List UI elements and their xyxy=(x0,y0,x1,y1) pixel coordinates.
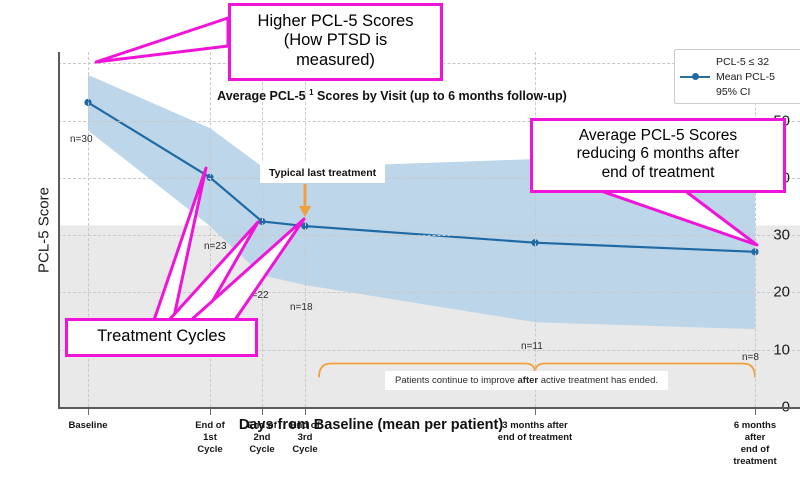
chart-legend: PCL-5 ≤ 32 Mean PCL-5 95% CI xyxy=(674,49,800,104)
sample-size-label: n=22 xyxy=(246,290,269,301)
x-axis-tick-label: End of 1st Cycle xyxy=(195,420,225,456)
callout-reducing-line-3: end of treatment xyxy=(539,164,777,182)
sample-size-label: n=8 xyxy=(742,352,759,363)
bracket-note-annotation: Patients continue to improve after activ… xyxy=(385,371,668,390)
y-axis-title: PCL-5 Score xyxy=(36,187,53,273)
x-axis-title: Days from Baseline (mean per patient) xyxy=(239,417,503,433)
callout-higher-line-1: Higher PCL-5 Scores xyxy=(237,12,434,31)
callout-cycles-line-1: Treatment Cycles xyxy=(74,327,249,346)
x-axis-tick-label: 3 months after end of treatment xyxy=(498,420,572,444)
x-axis-tick-mark xyxy=(88,408,89,415)
bracket-note-text-after: active treatment has ended. xyxy=(538,375,658,386)
x-axis-tick-mark xyxy=(535,408,536,415)
gridline-vertical xyxy=(262,52,264,407)
gridline-vertical xyxy=(535,52,537,407)
callout-reducing-line-1: Average PCL-5 Scores xyxy=(539,127,777,145)
legend-line-mean-icon xyxy=(680,71,710,82)
x-axis-tick-label: 6 months after end of treatment xyxy=(733,420,778,468)
legend-label-mean: Mean PCL-5 xyxy=(716,71,775,83)
bracket-note-text-before: Patients continue to improve xyxy=(395,375,518,386)
x-axis-tick-label: Baseline xyxy=(68,420,107,432)
sample-size-label: n=11 xyxy=(521,341,543,352)
callout-treatment-cycles: Treatment Cycles xyxy=(65,318,258,357)
legend-swatch-ci-icon xyxy=(680,86,710,97)
gridline-horizontal xyxy=(58,235,800,237)
legend-swatch-threshold-icon xyxy=(680,56,710,67)
callout-higher-line-2: (How PTSD is xyxy=(237,31,434,50)
gridline-horizontal xyxy=(58,292,800,294)
legend-item-mean: Mean PCL-5 xyxy=(680,69,796,84)
x-axis-tick-mark xyxy=(755,408,756,415)
legend-label-ci: 95% CI xyxy=(716,86,750,98)
callout-average-reducing: Average PCL-5 Scores reducing 6 months a… xyxy=(530,118,786,193)
sample-size-label: n=30 xyxy=(70,134,93,145)
legend-item-threshold: PCL-5 ≤ 32 xyxy=(680,54,796,69)
y-axis-tick-label: 10 xyxy=(773,341,790,358)
x-axis-tick-mark xyxy=(210,408,211,415)
typical-last-treatment-annotation: Typical last treatment xyxy=(260,163,385,183)
y-axis-line xyxy=(58,52,60,407)
sample-size-label: n=18 xyxy=(290,302,313,313)
chart-screenshot: 0102030405060 BaselineEnd of 1st CycleEn… xyxy=(0,0,800,485)
orange-down-arrow-icon xyxy=(297,184,313,220)
callout-reducing-line-2: reducing 6 months after xyxy=(539,145,777,163)
legend-item-ci: 95% CI xyxy=(680,84,796,99)
callout-higher-scores: Higher PCL-5 Scores (How PTSD is measure… xyxy=(228,3,443,81)
callout-higher-line-3: measured) xyxy=(237,51,434,70)
x-axis-tick-mark xyxy=(262,408,263,415)
chart-title: Average PCL-5 1 Scores by Visit (up to 6… xyxy=(217,88,567,103)
y-axis-tick-label: 30 xyxy=(773,227,790,244)
y-axis-tick-label: 20 xyxy=(773,284,790,301)
legend-label-threshold: PCL-5 ≤ 32 xyxy=(716,56,769,68)
bracket-note-text-bold: after xyxy=(518,375,539,386)
gridline-vertical xyxy=(305,52,307,407)
x-axis-tick-mark xyxy=(305,408,306,415)
x-axis-line xyxy=(58,407,800,409)
sample-size-label: n=23 xyxy=(204,241,227,252)
